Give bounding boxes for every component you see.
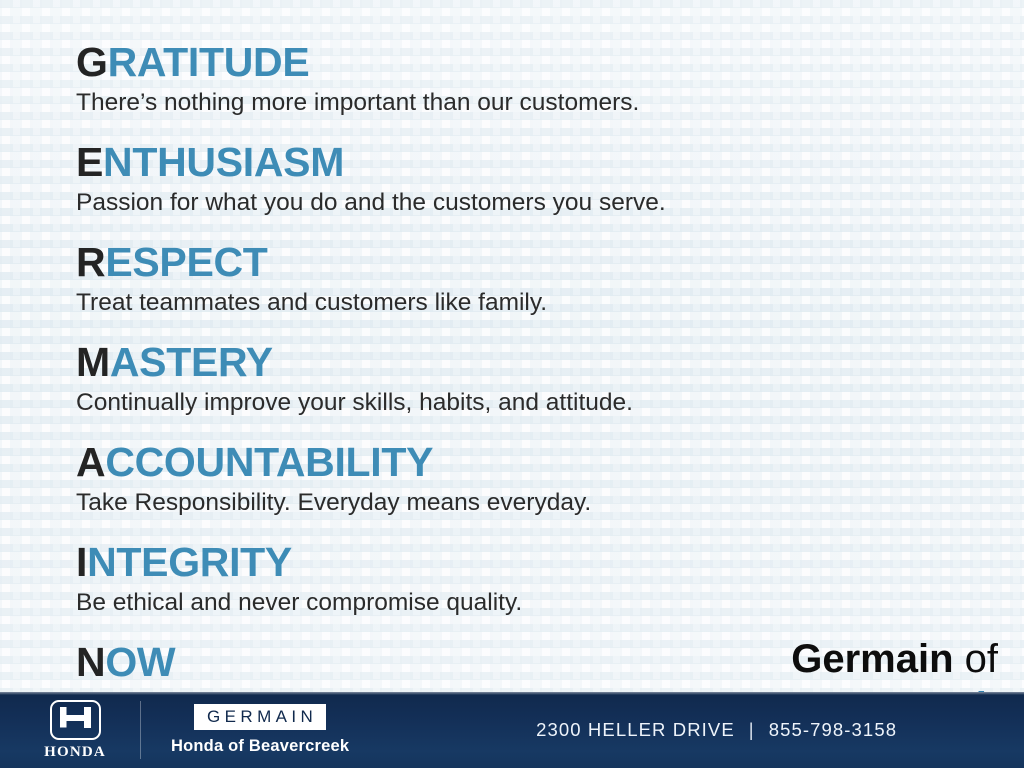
value-rest: CCOUNTABILITY xyxy=(105,439,433,485)
value-heading-now: NOW xyxy=(76,640,175,684)
honda-wordmark: HONDA xyxy=(44,744,106,761)
values-list: GRATITUDE There’s nothing more important… xyxy=(0,0,1024,768)
germain-dealership-name: Honda of Beavercreek xyxy=(171,737,349,756)
honda-h-right-stroke xyxy=(84,707,91,728)
value-heading-accountability: ACCOUNTABILITY xyxy=(76,440,591,484)
value-description-integrity: Be ethical and never compromise quality. xyxy=(76,588,522,618)
germain-logo: GERMAIN Honda of Beavercreek xyxy=(171,704,349,756)
value-rest: ASTERY xyxy=(110,339,273,385)
value-initial: M xyxy=(76,339,110,385)
value-rest: ESPECT xyxy=(105,239,267,285)
dealer-name-line1: Germain of xyxy=(760,636,998,682)
value-description-gratitude: There’s nothing more important than our … xyxy=(76,88,639,118)
value-initial: E xyxy=(76,139,103,185)
value-item-accountability: ACCOUNTABILITY Take Responsibility. Ever… xyxy=(76,440,591,518)
dealer-phone[interactable]: 855-798-3158 xyxy=(769,719,897,741)
value-item-now: NOW xyxy=(76,640,175,684)
dealer-name-overlay: Germain of Beavercreek xyxy=(760,636,998,694)
honda-h-emblem-icon xyxy=(50,700,101,740)
contact-separator: | xyxy=(749,719,755,741)
value-rest: NTEGRITY xyxy=(87,539,292,585)
value-heading-mastery: MASTERY xyxy=(76,340,633,384)
honda-logo: HONDA xyxy=(16,700,134,761)
value-initial: G xyxy=(76,39,108,85)
dealer-address: 2300 HELLER DRIVE xyxy=(536,719,735,741)
value-initial: R xyxy=(76,239,105,285)
values-poster: GRATITUDE There’s nothing more important… xyxy=(0,0,1024,768)
value-heading-gratitude: GRATITUDE xyxy=(76,40,639,84)
value-initial: I xyxy=(76,539,87,585)
value-item-mastery: MASTERY Continually improve your skills,… xyxy=(76,340,633,418)
value-description-enthusiasm: Passion for what you do and the customer… xyxy=(76,188,666,218)
value-heading-respect: RESPECT xyxy=(76,240,547,284)
value-item-respect: RESPECT Treat teammates and customers li… xyxy=(76,240,547,318)
banner-top-highlight xyxy=(0,692,1024,695)
value-initial: N xyxy=(76,639,105,685)
value-rest: NTHUSIASM xyxy=(103,139,344,185)
value-item-enthusiasm: ENTHUSIASM Passion for what you do and t… xyxy=(76,140,666,218)
germain-wordmark: GERMAIN xyxy=(194,704,326,730)
value-heading-integrity: INTEGRITY xyxy=(76,540,522,584)
value-description-mastery: Continually improve your skills, habits,… xyxy=(76,388,633,418)
banner-contact-info: 2300 HELLER DRIVE | 855-798-3158 xyxy=(349,719,1024,741)
value-description-respect: Treat teammates and customers like famil… xyxy=(76,288,547,318)
value-item-gratitude: GRATITUDE There’s nothing more important… xyxy=(76,40,639,118)
banner-divider xyxy=(140,701,141,759)
value-rest: OW xyxy=(105,639,175,685)
dealer-footer-banner: HONDA GERMAIN Honda of Beavercreek 2300 … xyxy=(0,692,1024,768)
value-heading-enthusiasm: ENTHUSIASM xyxy=(76,140,666,184)
value-initial: A xyxy=(76,439,105,485)
dealer-brand: Germain xyxy=(791,637,953,681)
dealer-of: of xyxy=(954,637,998,681)
value-item-integrity: INTEGRITY Be ethical and never compromis… xyxy=(76,540,522,618)
value-rest: RATITUDE xyxy=(108,39,310,85)
value-description-accountability: Take Responsibility. Everyday means ever… xyxy=(76,488,591,518)
